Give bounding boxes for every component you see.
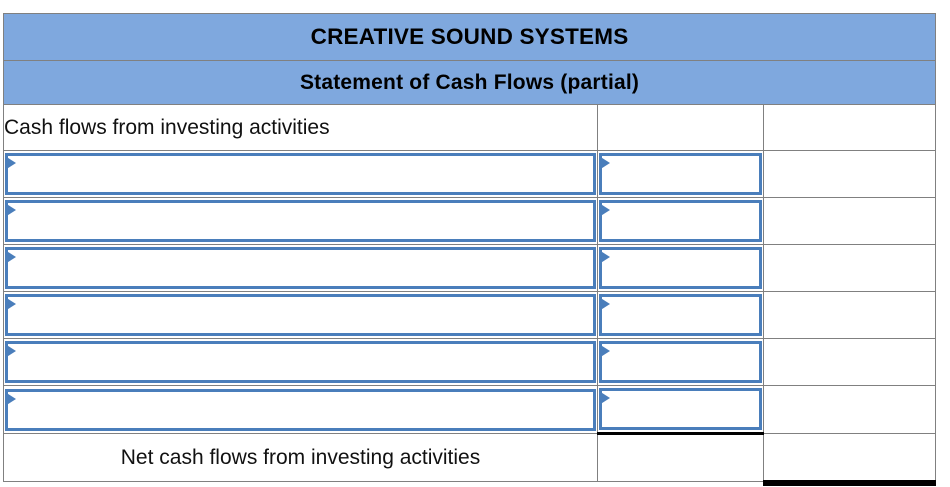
description-input-wrapper-5 — [4, 341, 597, 383]
entry-subtotal-cell-3 — [764, 245, 936, 292]
description-input-wrapper-2 — [4, 200, 597, 242]
description-input-3[interactable] — [5, 247, 596, 289]
entry-subtotal-cell-2 — [764, 198, 936, 245]
description-input-wrapper-6 — [4, 389, 597, 431]
section-heading-row: Cash flows from investing activities — [4, 105, 936, 151]
net-cash-flows-amount-cell — [598, 434, 764, 482]
entry-amount-cell-3 — [598, 245, 764, 292]
entry-amount-cell-6 — [598, 386, 764, 434]
entry-description-cell-4 — [4, 292, 598, 339]
entry-subtotal-cell-6 — [764, 386, 936, 434]
amount-input-3[interactable] — [599, 247, 762, 289]
net-cash-flows-label: Net cash flows from investing activities — [4, 434, 598, 482]
entry-description-cell-3 — [4, 245, 598, 292]
description-input-wrapper-3 — [4, 247, 597, 289]
description-input-wrapper-4 — [4, 294, 597, 336]
amount-input-6[interactable] — [599, 388, 762, 430]
table-row — [4, 339, 936, 386]
amount-input-wrapper-5 — [598, 341, 763, 383]
statement-worksheet: CREATIVE SOUND SYSTEMS Statement of Cash… — [0, 0, 950, 487]
statement-title-header: Statement of Cash Flows (partial) — [4, 61, 936, 105]
amount-input-wrapper-2 — [598, 200, 763, 242]
cash-flow-statement-table: CREATIVE SOUND SYSTEMS Statement of Cash… — [3, 13, 936, 482]
table-row — [4, 198, 936, 245]
table-row — [4, 386, 936, 434]
table-row — [4, 151, 936, 198]
amount-input-wrapper-3 — [598, 247, 763, 289]
company-name-header: CREATIVE SOUND SYSTEMS — [4, 14, 936, 61]
entry-amount-cell-4 — [598, 292, 764, 339]
entry-amount-cell-5 — [598, 339, 764, 386]
description-input-wrapper-1 — [4, 153, 597, 195]
entry-description-cell-6 — [4, 386, 598, 434]
entry-description-cell-5 — [4, 339, 598, 386]
table-row — [4, 292, 936, 339]
amount-input-wrapper-4 — [598, 294, 763, 336]
net-cash-flows-subtotal-cell — [764, 434, 936, 482]
description-input-2[interactable] — [5, 200, 596, 242]
table-row — [4, 245, 936, 292]
amount-input-5[interactable] — [599, 341, 762, 383]
description-input-5[interactable] — [5, 341, 596, 383]
entry-description-cell-1 — [4, 151, 598, 198]
table-header-title-row: Statement of Cash Flows (partial) — [4, 61, 936, 105]
description-input-6[interactable] — [5, 389, 596, 431]
entry-subtotal-cell-1 — [764, 151, 936, 198]
entry-amount-cell-1 — [598, 151, 764, 198]
description-input-4[interactable] — [5, 294, 596, 336]
table-header-company-row: CREATIVE SOUND SYSTEMS — [4, 14, 936, 61]
section-heading-subtotal-cell — [764, 105, 936, 151]
section-heading-amount-cell — [598, 105, 764, 151]
amount-input-1[interactable] — [599, 153, 762, 195]
description-input-1[interactable] — [5, 153, 596, 195]
net-cash-flows-row: Net cash flows from investing activities — [4, 434, 936, 482]
amount-input-4[interactable] — [599, 294, 762, 336]
entry-subtotal-cell-5 — [764, 339, 936, 386]
amount-input-2[interactable] — [599, 200, 762, 242]
section-heading-label: Cash flows from investing activities — [4, 105, 598, 151]
entry-description-cell-2 — [4, 198, 598, 245]
entry-subtotal-cell-4 — [764, 292, 936, 339]
entry-amount-cell-2 — [598, 198, 764, 245]
amount-input-wrapper-1 — [598, 153, 763, 195]
amount-input-wrapper-6 — [598, 388, 763, 430]
